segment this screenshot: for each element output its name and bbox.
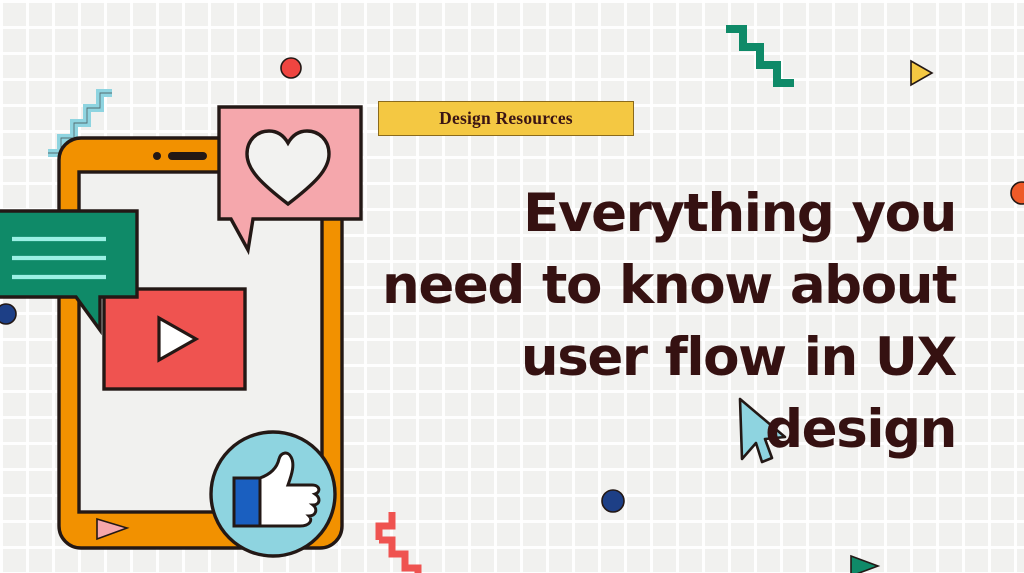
headline-line-1: Everything you [356,178,956,250]
red-dot-top [281,58,301,78]
headline-line-4: design [356,394,956,466]
page-title: Everything you need to know about user f… [356,178,956,466]
blue-dot-left [0,304,16,324]
thumbs-up-badge[interactable] [211,432,335,556]
green-triangle-bottom-right [851,556,878,573]
headline-line-2: need to know about [356,250,956,322]
red-zigzag-bottom-upper [379,512,392,540]
headline-line-3: user flow in UX [356,322,956,394]
blue-dot-bottom [602,490,624,512]
phone-speaker-bar [168,152,207,160]
phone-camera-dot [153,152,161,160]
banner-canvas: Design Resources Everything you need to … [0,0,1024,573]
video-play-card[interactable] [104,289,245,389]
red-zigzag-bottom [379,540,418,573]
orange-dot-right [1011,182,1024,204]
badge-label: Design Resources [439,108,573,129]
thumb-cuff [234,478,260,526]
design-resources-badge[interactable]: Design Resources [378,101,634,136]
yellow-triangle-top-right [911,61,932,85]
teal-zigzag-top-right [726,29,794,83]
